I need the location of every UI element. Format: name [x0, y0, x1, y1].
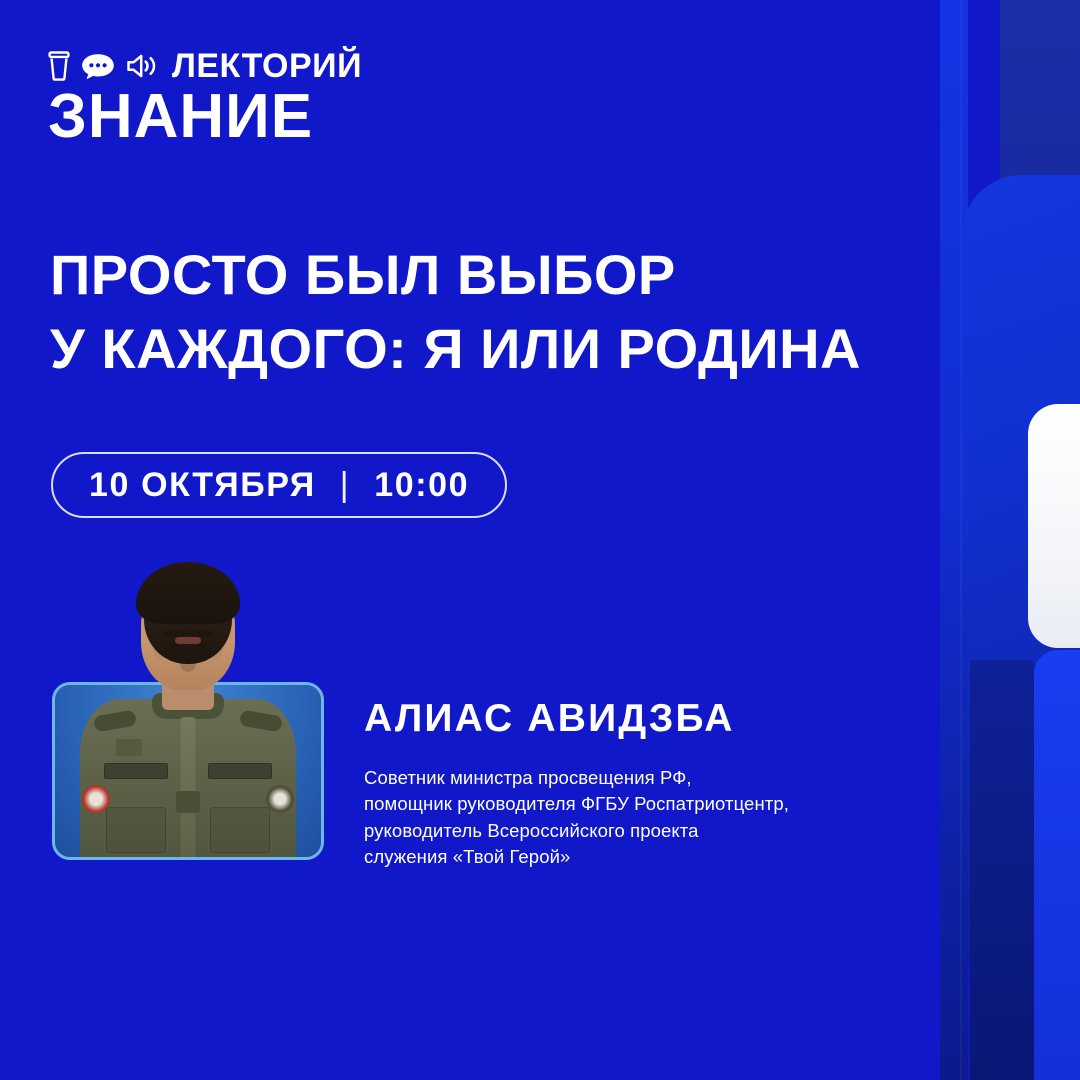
speaker-head — [122, 560, 254, 710]
decor-dark-panel-top — [1000, 0, 1080, 280]
cup-icon — [48, 51, 70, 81]
decor-light-strip — [940, 0, 968, 1080]
logo-znanie-text: ЗНАНИЕ — [48, 88, 388, 145]
sleeve-patch-right — [266, 785, 294, 813]
speaker-description-line-3: руководитель Всероссийского проекта — [364, 818, 834, 844]
event-title: ПРОСТО БЫЛ ВЫБОР У КАЖДОГО: Я ИЛИ РОДИНА — [50, 238, 930, 386]
decor-bright-strip-bottom — [1034, 650, 1080, 1080]
name-tape-right — [208, 763, 272, 779]
speaker-name: АЛИАС АВИДЗБА — [364, 697, 735, 741]
event-title-line-2: У КАЖДОГО: Я ИЛИ РОДИНА — [50, 312, 930, 386]
decor-rounded-column — [962, 175, 1080, 995]
hair — [136, 562, 240, 624]
uniform-pocket-right — [210, 807, 270, 853]
name-tape-left — [104, 763, 168, 779]
speaker-photo — [52, 560, 324, 860]
megaphone-icon — [126, 53, 158, 79]
speaker-description-line-4: служения «Твой Герой» — [364, 844, 834, 870]
decor-white-pill — [1028, 404, 1080, 648]
event-date: 10 ОКТЯБРЯ — [89, 466, 316, 505]
event-title-line-1: ПРОСТО БЫЛ ВЫБОР — [50, 238, 930, 312]
uniform-center-tab — [176, 791, 200, 813]
uniform-placket — [181, 717, 196, 860]
decor-seam-line — [960, 0, 962, 1080]
speaker-description-line-2: помощник руководителя ФГБУ Роспатриотцен… — [364, 791, 834, 817]
mouth — [175, 637, 201, 644]
uniform-pocket-left — [106, 807, 166, 853]
speaker-description-line-1: Советник министра просвещения РФ, — [364, 765, 834, 791]
logo-lektoriy-text: ЛЕКТОРИЙ — [172, 49, 362, 83]
badge-separator: | — [316, 466, 374, 505]
event-time: 10:00 — [374, 466, 469, 505]
poster-canvas: ЛЕКТОРИЙ ЗНАНИЕ ПРОСТО БЫЛ ВЫБОР У КАЖДО… — [0, 0, 1080, 1080]
chat-bubble-icon — [81, 53, 115, 80]
uniform-torso — [80, 699, 296, 860]
shoulder-strap-right — [239, 709, 283, 732]
brand-logo: ЛЕКТОРИЙ ЗНАНИЕ — [48, 48, 388, 145]
shoulder-strap-left — [93, 709, 137, 732]
date-time-badge: 10 ОКТЯБРЯ | 10:00 — [51, 452, 507, 518]
background-decoration — [0, 0, 1080, 1080]
logo-top-row: ЛЕКТОРИЙ — [48, 48, 388, 84]
uniform-small-patch — [116, 739, 142, 756]
decor-dark-panel-bottom — [970, 660, 1034, 1080]
speaker-description: Советник министра просвещения РФ, помощн… — [364, 765, 834, 870]
